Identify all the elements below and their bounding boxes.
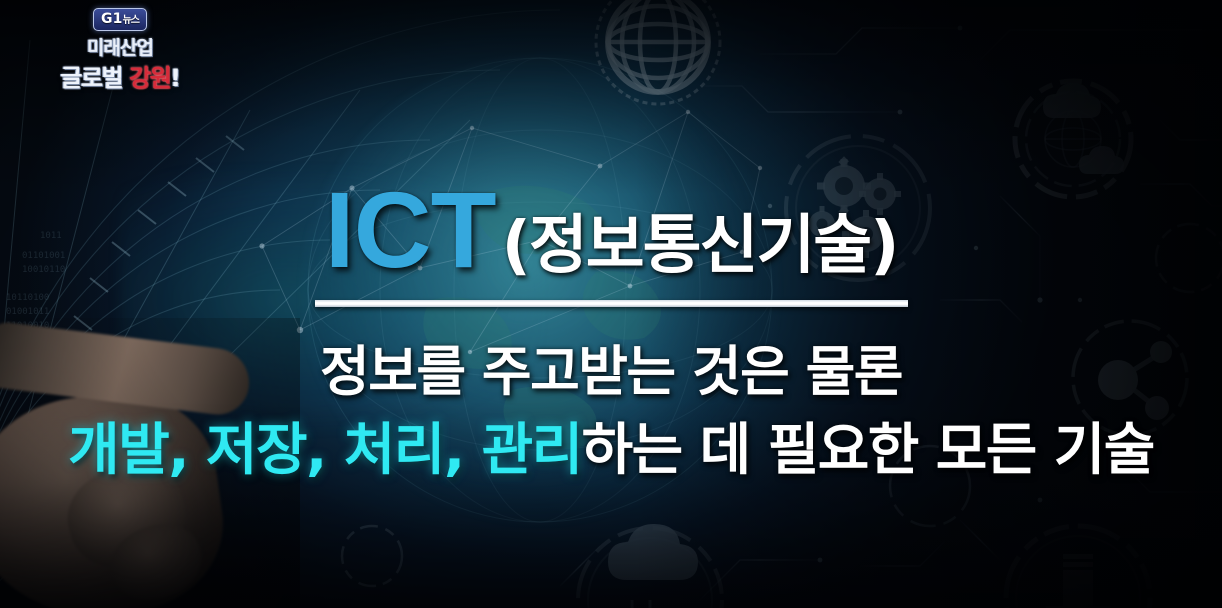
- channel-badge-sub: 뉴스: [123, 15, 139, 26]
- logo-line-2-suffix: !: [170, 64, 179, 92]
- title-divider: [315, 300, 908, 307]
- logo-line-2-accent: 강원: [129, 64, 170, 92]
- channel-badge-text: G1: [101, 11, 123, 27]
- page-title: ICT(정보통신기술): [0, 176, 1222, 284]
- title-acronym: ICT: [325, 169, 496, 290]
- broadcast-graphic-frame: 10110100 01001011 11010010 00111001 1001…: [0, 0, 1222, 608]
- logo-line-1: 미래산업: [40, 33, 200, 60]
- broadcaster-logo: G1뉴스 미래산업 글로벌 강원!: [40, 8, 200, 93]
- body-line-2: 개발, 저장, 처리, 관리하는 데 필요한 모든 기술: [0, 422, 1222, 481]
- body-line-1: 정보를 주고받는 것은 물론: [0, 344, 1222, 401]
- body-line-2-highlight: 개발, 저장, 처리, 관리: [68, 418, 581, 483]
- logo-line-2-prefix: 글로벌: [60, 64, 129, 92]
- title-expansion: (정보통신기술): [502, 209, 898, 283]
- body-line-2-rest: 하는 데 필요한 모든 기술: [582, 418, 1154, 483]
- channel-badge: G1뉴스: [93, 8, 147, 31]
- logo-line-2: 글로벌 강원!: [40, 58, 200, 93]
